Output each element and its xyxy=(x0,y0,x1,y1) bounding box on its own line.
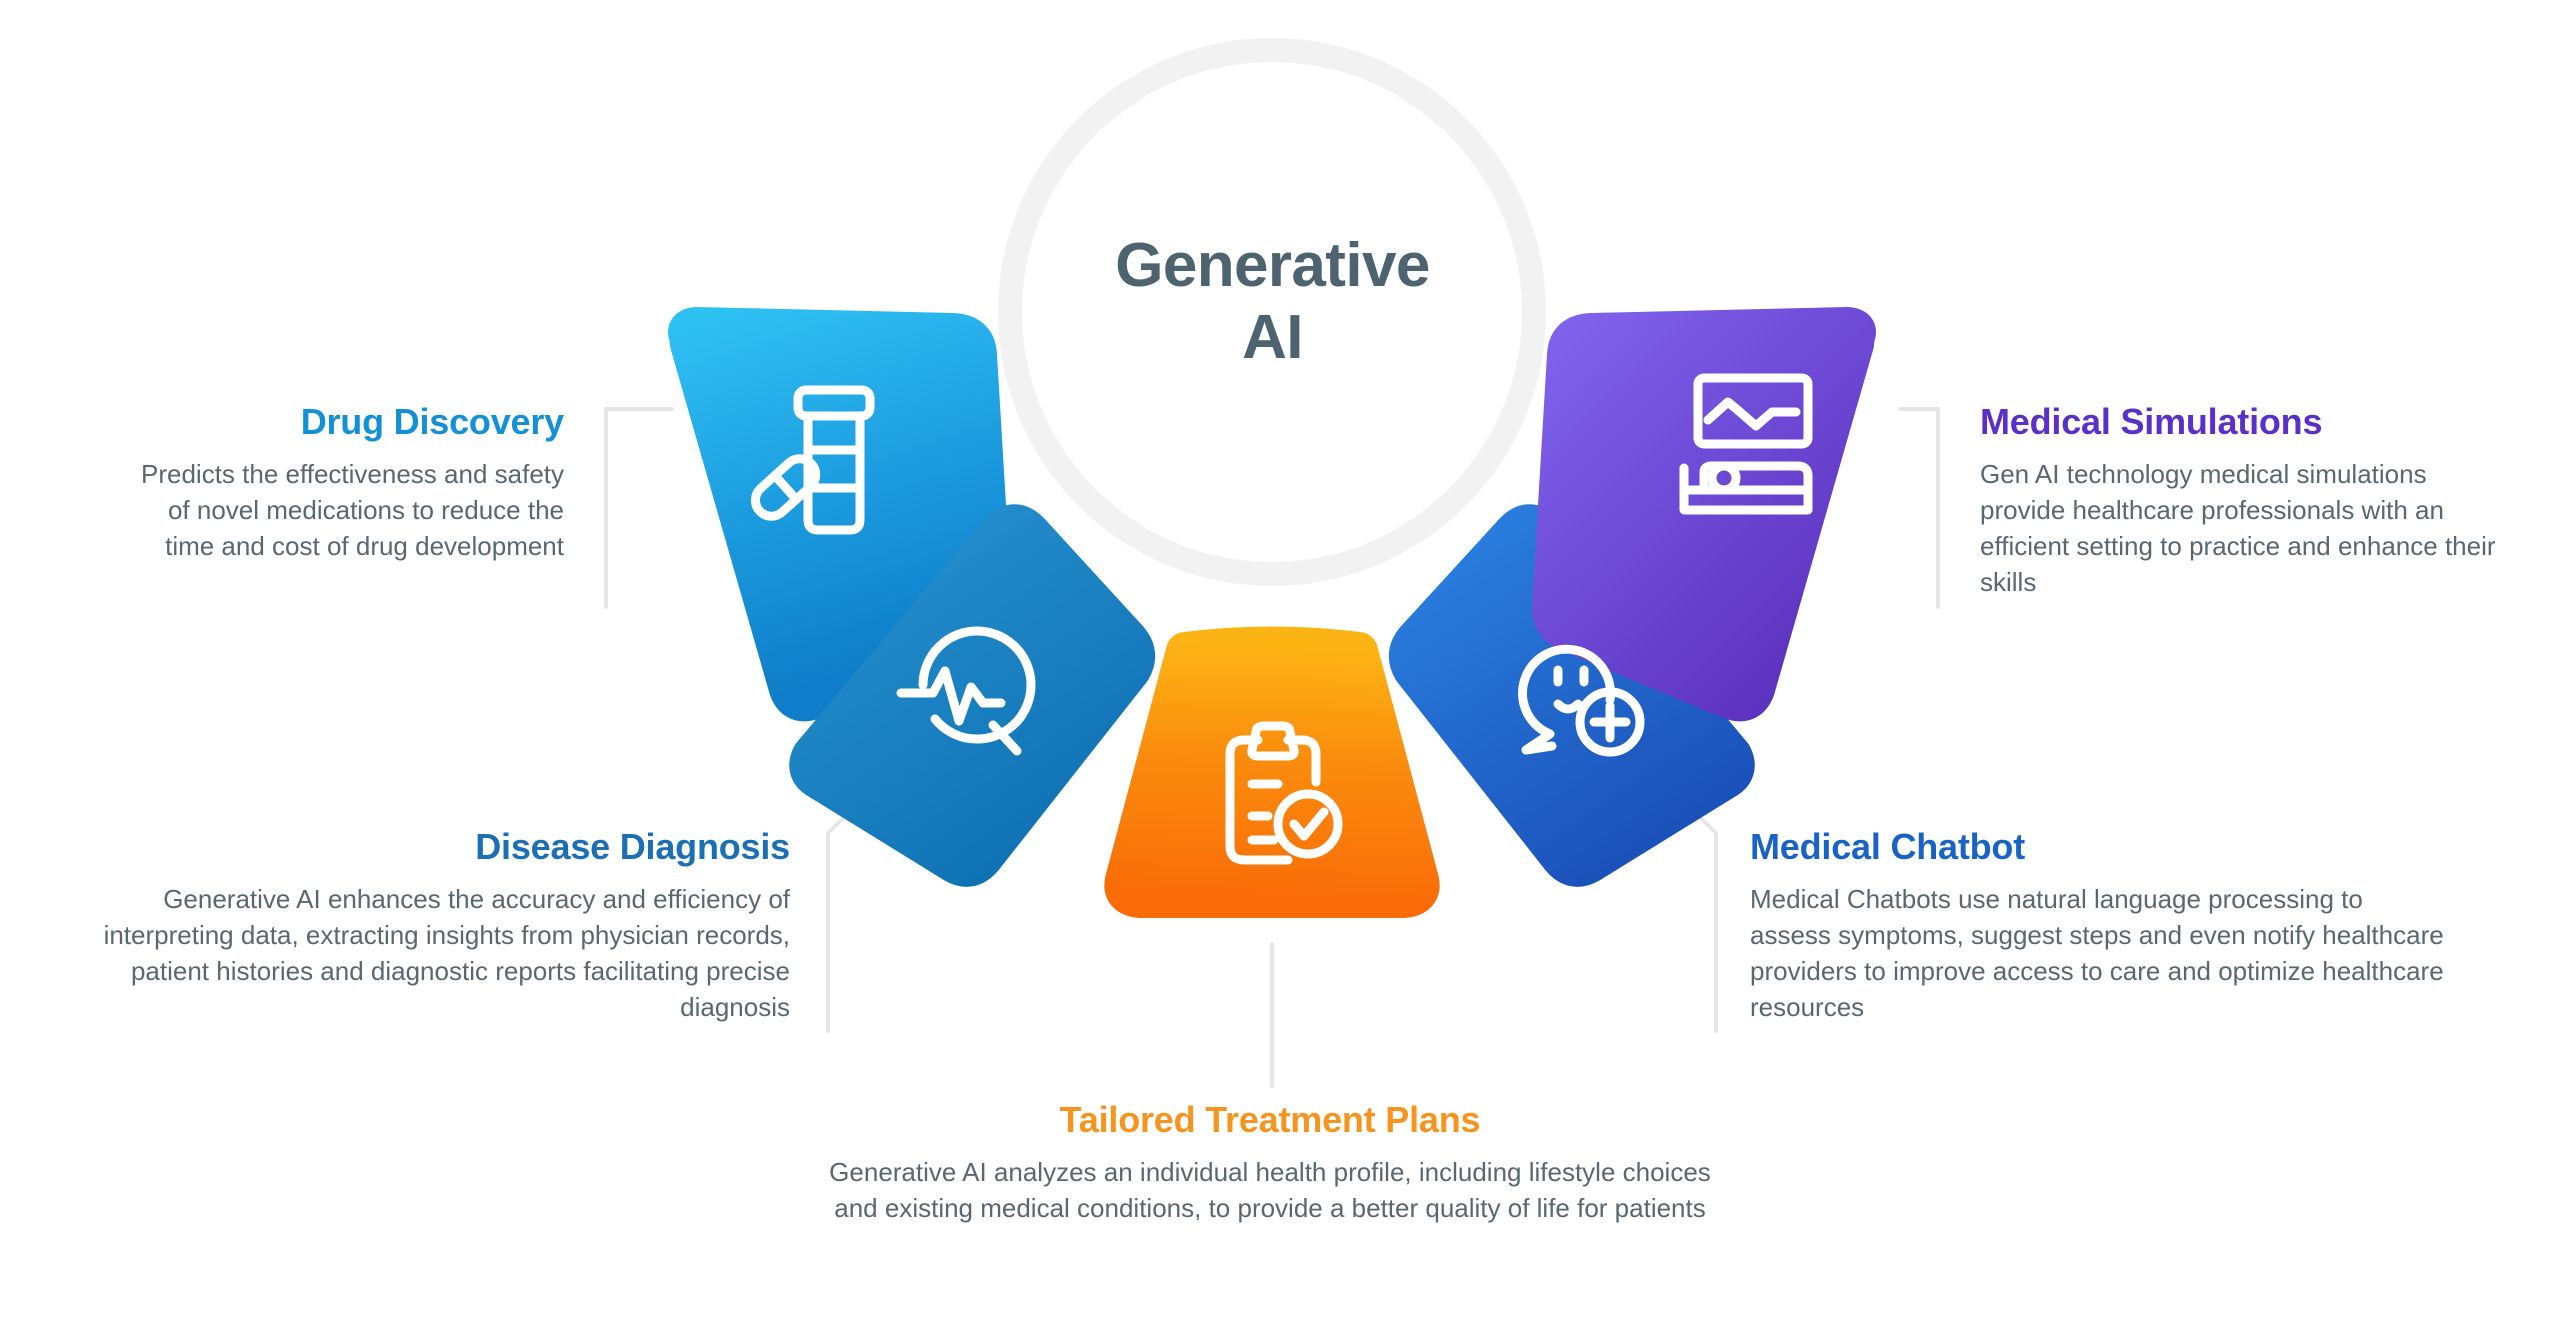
hospital-bed-monitor-icon xyxy=(1684,378,1808,510)
connector-medical-chatbot xyxy=(1682,800,1716,1031)
block-disease-diagnosis: Disease Diagnosis Generative AI enhances… xyxy=(90,825,790,1026)
center-title-line2: AI xyxy=(1000,302,1545,374)
petal-drug-discovery xyxy=(687,326,993,702)
heading-disease-diagnosis: Disease Diagnosis xyxy=(90,825,790,868)
petal-treatment-plans xyxy=(1123,646,1420,900)
pill-bottle-icon xyxy=(749,390,870,530)
heading-medical-chatbot: Medical Chatbot xyxy=(1750,825,2450,868)
body-treatment-plans: Generative AI analyzes an individual hea… xyxy=(820,1155,1720,1227)
block-drug-discovery: Drug Discovery Predicts the effectivenes… xyxy=(120,400,564,565)
pulse-search-icon xyxy=(901,631,1031,751)
block-treatment-plans: Tailored Treatment Plans Generative AI a… xyxy=(820,1098,1720,1227)
center-title: Generative AI xyxy=(1000,230,1545,374)
heading-treatment-plans: Tailored Treatment Plans xyxy=(820,1098,1720,1141)
connector-medical-simulations xyxy=(1900,409,1938,607)
infographic-root: Generative AI Drug Discovery Predicts th… xyxy=(0,0,2560,1340)
block-medical-chatbot: Medical Chatbot Medical Chatbots use nat… xyxy=(1750,825,2450,1026)
block-medical-simulations: Medical Simulations Gen AI technology me… xyxy=(1980,400,2500,601)
body-drug-discovery: Predicts the effectiveness and safety of… xyxy=(120,457,564,565)
chat-plus-icon xyxy=(1523,649,1640,752)
body-medical-simulations: Gen AI technology medical simulations pr… xyxy=(1980,457,2500,601)
petal-medical-chatbot xyxy=(1408,523,1736,868)
body-disease-diagnosis: Generative AI enhances the accuracy and … xyxy=(90,882,790,1026)
body-medical-chatbot: Medical Chatbots use natural language pr… xyxy=(1750,882,2450,1026)
heading-drug-discovery: Drug Discovery xyxy=(120,400,564,443)
center-title-line1: Generative xyxy=(1000,230,1545,302)
petal-medical-simulations xyxy=(1551,326,1857,702)
clipboard-check-icon xyxy=(1230,726,1338,860)
petal-disease-diagnosis xyxy=(808,523,1136,868)
heading-medical-simulations: Medical Simulations xyxy=(1980,400,2500,443)
connector-lines xyxy=(606,409,1938,1086)
connector-drug-discovery xyxy=(606,409,672,607)
connector-disease-diagnosis xyxy=(828,800,862,1031)
